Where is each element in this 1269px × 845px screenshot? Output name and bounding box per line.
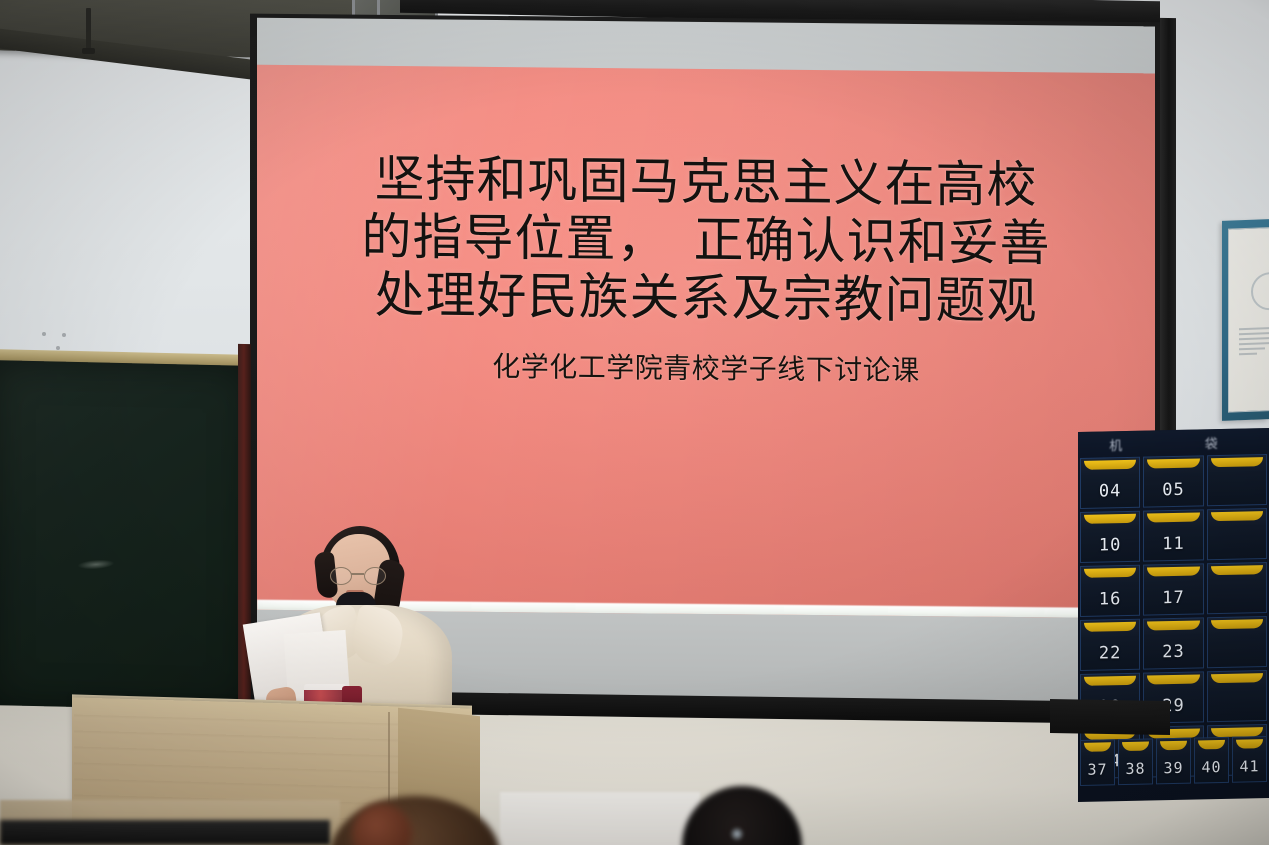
pocket-cell[interactable]: 38 <box>1118 738 1153 785</box>
pocket-cell-number: 23 <box>1162 642 1184 662</box>
pocket-cell-number: 38 <box>1125 760 1145 778</box>
foreground-student-hair-glint <box>730 826 744 842</box>
slide-subtitle: 化学化工学院青校学子线下讨论课 <box>492 345 920 389</box>
pocket-cell-number: 40 <box>1201 758 1221 776</box>
slide-title-line-2: 的指导位置， 正确认识和妥善 <box>362 208 1051 273</box>
wall-fixture-dots <box>38 332 108 342</box>
pocket-cell[interactable] <box>1207 454 1267 506</box>
pocket-cell-number: 05 <box>1162 480 1184 500</box>
pocket-cell[interactable] <box>1207 562 1267 614</box>
pocket-cell[interactable] <box>1207 670 1267 722</box>
pocket-cell-number: 22 <box>1099 643 1121 663</box>
slide-title-line-1: 坚持和巩固马克思主义在高校 <box>375 150 1038 214</box>
pocket-cell-number: 37 <box>1087 760 1107 778</box>
pocket-header-right: 袋 <box>1205 432 1238 452</box>
pocket-cell[interactable]: 22 <box>1080 619 1140 671</box>
framed-certificate <box>1222 219 1269 421</box>
ceiling-hanger-rod <box>86 8 91 50</box>
pocket-cell[interactable]: 23 <box>1143 617 1203 669</box>
pocket-cell[interactable] <box>1207 616 1267 668</box>
pocket-cell-number: 11 <box>1162 534 1184 554</box>
pocket-cell[interactable]: 39 <box>1156 738 1191 785</box>
right-equipment-box <box>1050 699 1170 735</box>
pocket-cell[interactable]: 17 <box>1143 563 1203 615</box>
eyeglasses-icon <box>328 567 390 583</box>
pocket-cell[interactable]: 37 <box>1080 739 1115 786</box>
classroom-photo: 坚持和巩固马克思主义在高校 的指导位置， 正确认识和妥善 处理好民族关系及宗教问… <box>0 0 1269 845</box>
pocket-cell[interactable]: 04 <box>1080 457 1140 509</box>
pocket-cell-number: 41 <box>1239 757 1259 775</box>
pocket-cell[interactable]: 05 <box>1143 455 1203 507</box>
phone-pocket-chart[interactable]: 机 袋 040510111617222328293435 3738394041 <box>1078 428 1269 802</box>
pocket-cell[interactable]: 40 <box>1194 737 1229 784</box>
pocket-cell-number: 04 <box>1099 481 1121 501</box>
pocket-header-left: 机 <box>1109 434 1142 454</box>
pocket-cell[interactable]: 16 <box>1080 565 1140 617</box>
pocket-cell-number: 10 <box>1099 535 1121 555</box>
pocket-cell[interactable] <box>1207 508 1267 560</box>
pocket-cell[interactable]: 11 <box>1143 509 1203 561</box>
certificate-text-lines <box>1239 324 1269 359</box>
pocket-cell-number: 17 <box>1162 588 1184 608</box>
pocket-chart-bottom-row: 3738394041 <box>1078 736 1269 786</box>
slide-title-line-3: 处理好民族关系及宗教问题观 <box>375 266 1038 330</box>
pocket-cell[interactable]: 41 <box>1232 736 1267 783</box>
pocket-chart-header: 机 袋 <box>1078 428 1269 458</box>
pocket-cell-number: 16 <box>1099 589 1121 609</box>
pocket-cell[interactable]: 10 <box>1080 511 1140 563</box>
foreground-paper <box>500 792 700 845</box>
speaker-person <box>258 520 468 720</box>
certificate-seal-icon <box>1251 271 1269 310</box>
blackboard <box>0 360 250 711</box>
pocket-cell-number: 39 <box>1163 759 1183 777</box>
foreground-shadow <box>0 820 330 845</box>
certificate-paper <box>1228 227 1269 413</box>
